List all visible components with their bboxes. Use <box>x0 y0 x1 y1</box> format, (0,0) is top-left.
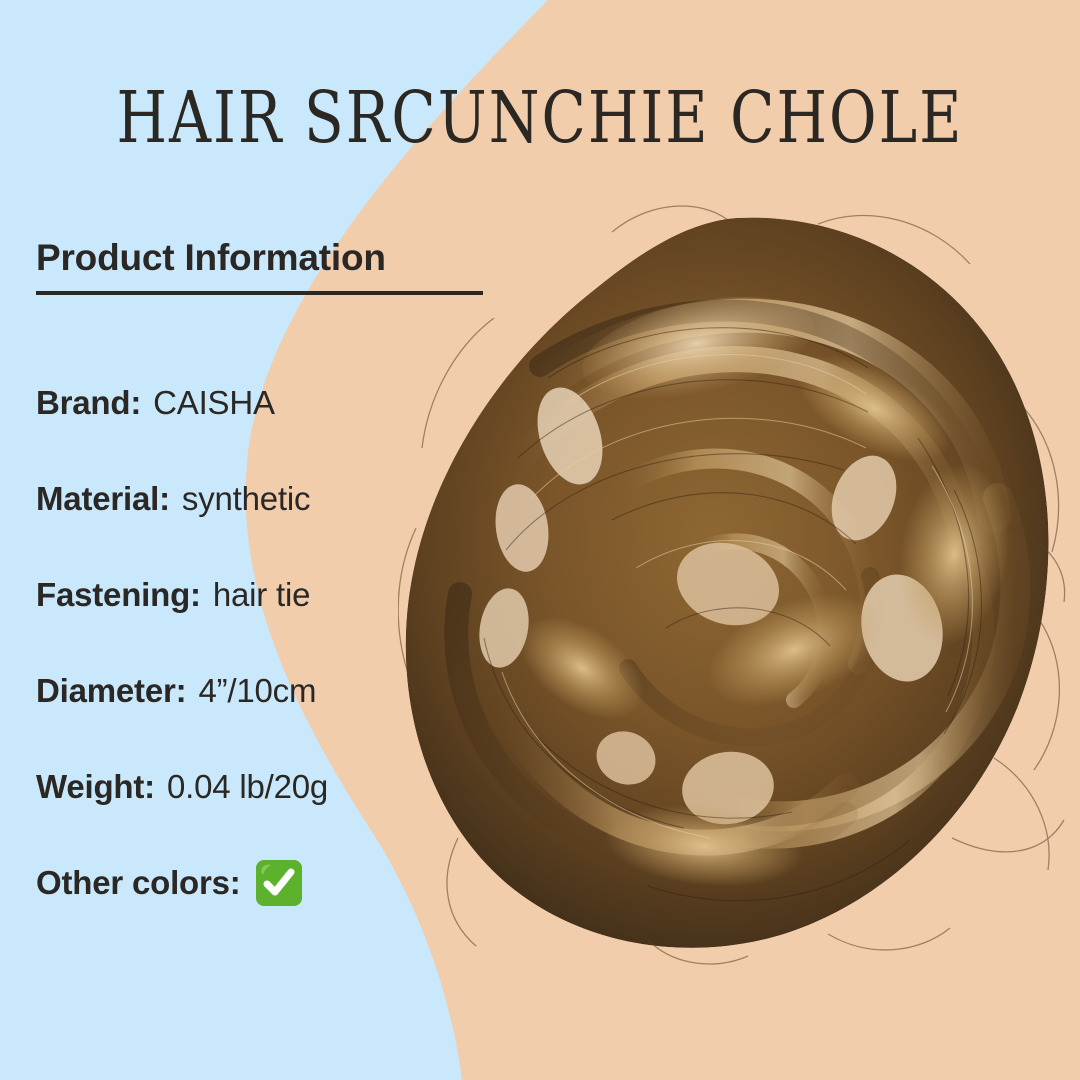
spec-label-diameter: Diameter: <box>36 672 186 710</box>
spec-row-material: Material: synthetic <box>36 451 556 547</box>
product-information-heading: Product Information <box>36 238 483 295</box>
spec-value-brand: CAISHA <box>153 384 275 422</box>
spec-label-fastening: Fastening: <box>36 576 201 614</box>
spec-label-brand: Brand: <box>36 384 141 422</box>
spec-row-weight: Weight: 0.04 lb/20g <box>36 739 556 835</box>
spec-row-fastening: Fastening: hair tie <box>36 547 556 643</box>
spec-row-brand: Brand: CAISHA <box>36 355 556 451</box>
spec-label-weight: Weight: <box>36 768 155 806</box>
spec-label-material: Material: <box>36 480 170 518</box>
spec-value-material: synthetic <box>182 480 310 518</box>
heading-underline <box>36 291 483 295</box>
spec-value-fastening: hair tie <box>213 576 310 614</box>
spec-label-other-colors: Other colors: <box>36 864 241 902</box>
spec-value-diameter: 4”/10cm <box>198 672 316 710</box>
product-info-graphic: HAIR SRCUNCHIE CHOLE <box>0 0 1080 1080</box>
white-check-mark-icon <box>255 859 303 907</box>
spec-row-diameter: Diameter: 4”/10cm <box>36 643 556 739</box>
product-information-heading-text: Product Information <box>36 237 386 278</box>
product-spec-list: Brand: CAISHA Material: synthetic Fasten… <box>36 355 556 931</box>
spec-value-weight: 0.04 lb/20g <box>167 768 328 806</box>
page-title: HAIR SRCUNCHIE CHOLE <box>0 82 1080 153</box>
spec-row-other-colors: Other colors: <box>36 835 556 931</box>
